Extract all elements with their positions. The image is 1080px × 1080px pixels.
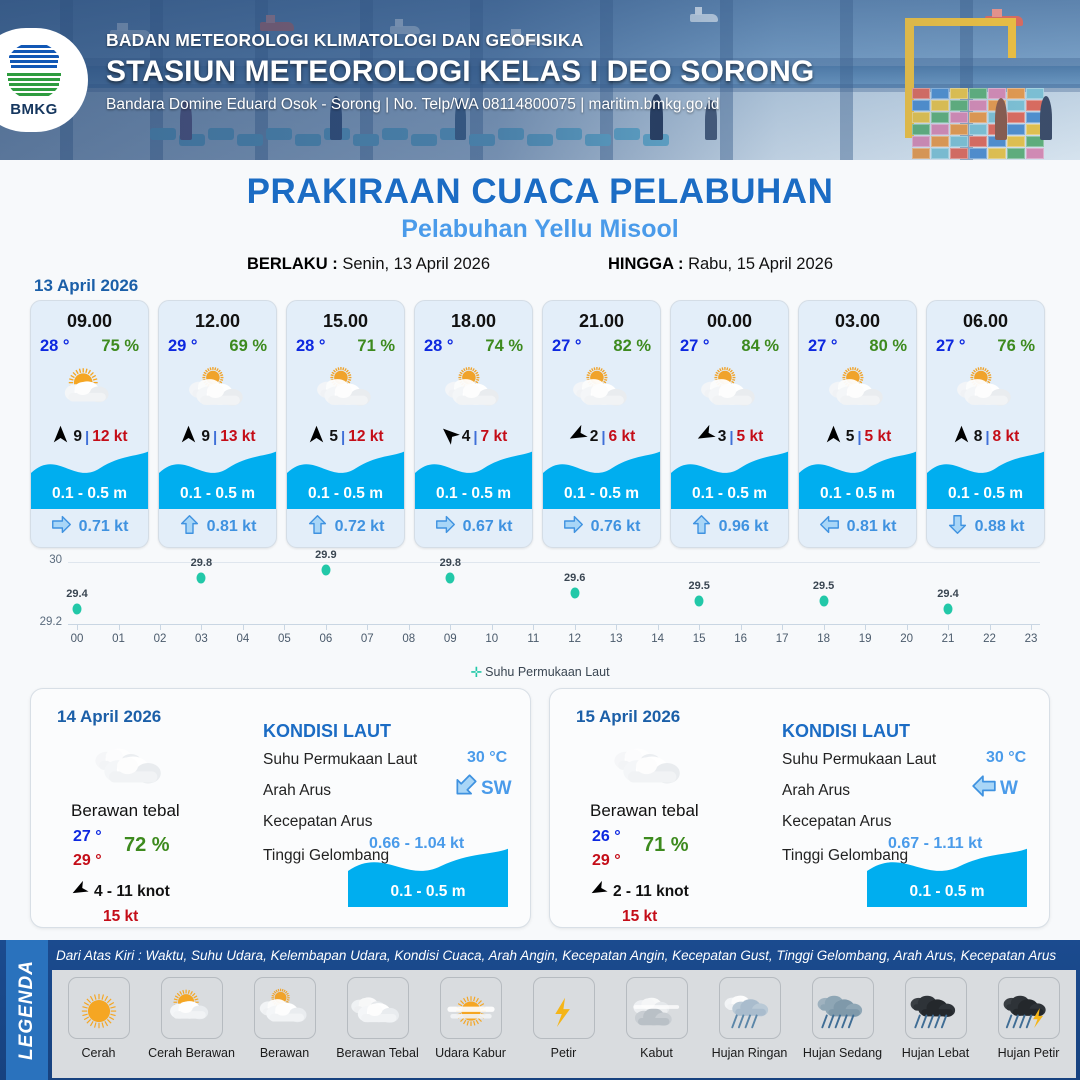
chart-point (570, 588, 579, 599)
forecast-values: 27 ° 82 % (543, 337, 660, 356)
chart-x-tick-label: 15 (693, 633, 706, 645)
panel-wind: 2 - 11 knot (590, 881, 689, 903)
kabut-icon (630, 986, 684, 1030)
wave-height: 0.1 - 0.5 m (31, 479, 148, 509)
legend-item: Hujan Petir (982, 977, 1075, 1060)
current-row: 0.81 kt (799, 512, 916, 542)
udara-kabur-icon (444, 986, 498, 1030)
chart-point-label: 29.6 (564, 572, 585, 584)
weather-condition-icon (31, 358, 148, 420)
wave-height: 0.1 - 0.5 m (799, 479, 916, 509)
cerah-berawan-icon (59, 364, 121, 415)
legend-item: Hujan Sedang (796, 977, 889, 1060)
legend-item: Cerah Berawan (145, 977, 238, 1060)
wind-speed: 2 (590, 428, 599, 446)
legend-item-icon-box (719, 977, 781, 1039)
hujan-lebat-icon (909, 986, 963, 1030)
forecast-card: 06.00 27 ° 76 % 8 | 8 kt 0.1 - 0.5 m (926, 300, 1045, 548)
wind-direction-arrow-icon (51, 425, 70, 449)
chart-x-tick (948, 624, 949, 630)
valid-to-value: Rabu, 15 April 2026 (688, 255, 833, 273)
panel-current-direction-value: W (1000, 778, 1018, 800)
air-temperature: 27 ° (808, 337, 838, 356)
chart-point-label: 29.4 (66, 588, 87, 600)
forecast-values: 29 ° 69 % (159, 337, 276, 356)
wind-direction-arrow-icon (568, 425, 587, 449)
current-direction-arrow-icon (435, 514, 456, 540)
forecast-values: 27 ° 76 % (927, 337, 1044, 356)
wind-speed: 8 (974, 428, 983, 446)
chart-point (446, 572, 455, 583)
chart-x-tick-label: 08 (402, 633, 415, 645)
legend-item: Cerah (52, 977, 145, 1060)
forecast-values: 28 ° 74 % (415, 337, 532, 356)
current-speed: 0.88 kt (975, 518, 1025, 536)
hujan-sedang-icon (816, 986, 870, 1030)
weather-condition-icon (415, 358, 532, 420)
weather-condition-icon (159, 358, 276, 420)
current-speed: 0.67 kt (463, 518, 513, 536)
forecast-time: 15.00 (287, 311, 404, 332)
legend-side-tab: LEGENDA (6, 940, 48, 1080)
hujan-petir-icon (1002, 986, 1056, 1030)
panel-weather-icon (614, 733, 688, 799)
chart-x-tick-label: 03 (195, 633, 208, 645)
chart-x-tick-label: 17 (776, 633, 789, 645)
weather-condition-icon (671, 358, 788, 420)
legend-item-icon-box (347, 977, 409, 1039)
legend-item-label: Cerah Berawan (148, 1046, 235, 1060)
legend-item-label: Hujan Ringan (712, 1046, 788, 1060)
gust-speed: 12 kt (348, 428, 383, 446)
gust-speed: 8 kt (993, 428, 1020, 446)
chart-legend-label: Suhu Permukaan Laut (485, 665, 609, 679)
wind-separator: | (601, 429, 605, 446)
chart-x-tick (990, 624, 991, 630)
berawan-icon (955, 364, 1017, 415)
wind-separator: | (85, 429, 89, 446)
valid-from-value: Senin, 13 April 2026 (342, 255, 490, 273)
panel-current-direction-label: Arah Arus (263, 782, 331, 800)
agency-name: BADAN METEOROLOGI KLIMATOLOGI DAN GEOFIS… (106, 30, 814, 51)
legend-item-label: Udara Kabur (435, 1046, 506, 1060)
chart-x-tick-label: 23 (1025, 633, 1038, 645)
chart-x-tick-label: 00 (71, 633, 84, 645)
chart-x-tick (865, 624, 866, 630)
chart-x-tick-label: 11 (527, 633, 539, 645)
panel-sst-label: Suhu Permukaan Laut (263, 751, 417, 769)
legend-side-label: LEGENDA (16, 960, 38, 1060)
chart-x-tick-label: 16 (734, 633, 747, 645)
air-temperature: 28 ° (40, 337, 70, 356)
chart-x-axis (68, 624, 1040, 625)
gust-speed: 13 kt (220, 428, 255, 446)
berawan-icon (571, 364, 633, 415)
panel-current-direction-arrow-icon (452, 773, 478, 804)
chart-x-tick (77, 624, 78, 630)
forecast-card: 12.00 29 ° 69 % 9 | 13 kt 0.1 - 0.5 m (158, 300, 277, 548)
chart-point (695, 595, 704, 606)
panel-condition: Berawan tebal (590, 801, 699, 821)
air-temperature: 28 ° (424, 337, 454, 356)
wind-direction-arrow-icon (307, 425, 326, 449)
legend-item: Petir (517, 977, 610, 1060)
chart-point-label: 29.9 (315, 549, 336, 561)
panel-date: 15 April 2026 (576, 707, 680, 727)
weather-condition-icon (287, 358, 404, 420)
panel-date: 14 April 2026 (57, 707, 161, 727)
chart-x-tick-label: 14 (651, 633, 664, 645)
humidity: 74 % (485, 337, 523, 356)
gust-speed: 5 kt (737, 428, 764, 446)
valid-to: HINGGA : Rabu, 15 April 2026 (608, 255, 833, 274)
panel-humidity: 72 % (124, 834, 170, 857)
current-row: 0.76 kt (543, 512, 660, 542)
current-row: 0.72 kt (287, 512, 404, 542)
legend-item-icon-box (161, 977, 223, 1039)
chart-x-tick-label: 10 (485, 633, 498, 645)
legend-item-label: Kabut (640, 1046, 673, 1060)
current-row: 0.67 kt (415, 512, 532, 542)
wave-height: 0.1 - 0.5 m (287, 479, 404, 509)
panel-temp-max: 29 ° (592, 852, 621, 870)
panel-wind-value: 4 - 11 knot (94, 883, 170, 901)
station-contact: Bandara Domine Eduard Osok - Sorong | No… (106, 96, 814, 114)
chart-x-tick-label: 05 (278, 633, 291, 645)
current-row: 0.96 kt (671, 512, 788, 542)
current-speed: 0.81 kt (207, 518, 257, 536)
panel-sea-title: KONDISI LAUT (782, 721, 910, 742)
bmkg-logo-text: BMKG (10, 101, 57, 118)
chart-x-tick (658, 624, 659, 630)
wind-direction-arrow-icon (440, 425, 459, 449)
forecast-date-label: 13 April 2026 (34, 276, 138, 296)
hujan-ringan-icon (723, 986, 777, 1030)
chart-x-tick (616, 624, 617, 630)
panel-wave-value: 0.1 - 0.5 m (348, 883, 508, 901)
panel-humidity: 71 % (643, 834, 689, 857)
current-direction-arrow-icon (947, 514, 968, 540)
berawan-icon (187, 364, 249, 415)
chart-x-tick-label: 20 (900, 633, 913, 645)
wind-speed: 5 (329, 428, 338, 446)
berawan-icon (699, 364, 761, 415)
legend-item-icon-box (254, 977, 316, 1039)
panel-current-speed-label: Kecepatan Arus (263, 813, 372, 831)
chart-x-tick-label: 22 (983, 633, 996, 645)
chart-plot-area: 29.429.829.929.829.629.529.529.4 (68, 562, 1040, 624)
panel-temp-min: 26 ° (592, 828, 621, 846)
wind-separator: | (729, 429, 733, 446)
humidity: 71 % (357, 337, 395, 356)
panel-sst-value: 30 °C (986, 749, 1026, 767)
chart-x-tick-label: 06 (319, 633, 332, 645)
panel-gust: 15 kt (103, 908, 138, 926)
legend-item-icon-box (998, 977, 1060, 1039)
humidity: 84 % (741, 337, 779, 356)
weather-condition-icon (927, 358, 1044, 420)
chart-point-label: 29.5 (813, 580, 834, 592)
legend-item: Berawan (238, 977, 331, 1060)
gust-speed: 7 kt (481, 428, 508, 446)
gust-speed: 6 kt (609, 428, 636, 446)
panel-current-direction-label: Arah Arus (782, 782, 850, 800)
current-direction-arrow-icon (563, 514, 584, 540)
panel-current-direction: SW (452, 773, 512, 804)
valid-from: BERLAKU : Senin, 13 April 2026 (247, 255, 490, 274)
wave-height: 0.1 - 0.5 m (543, 479, 660, 509)
petir-icon (537, 986, 591, 1030)
forecast-time: 06.00 (927, 311, 1044, 332)
forecast-values: 27 ° 80 % (799, 337, 916, 356)
wind-separator: | (857, 429, 861, 446)
panel-wind-value: 2 - 11 knot (613, 883, 689, 901)
chart-legend: ✛Suhu Permukaan Laut (30, 664, 1050, 681)
panel-sst-label: Suhu Permukaan Laut (782, 751, 936, 769)
current-speed: 0.96 kt (719, 518, 769, 536)
legend-item-label: Hujan Lebat (902, 1046, 969, 1060)
current-direction-arrow-icon (819, 514, 840, 540)
legend-item-label: Hujan Sedang (803, 1046, 882, 1060)
chart-x-tick-label: 12 (568, 633, 581, 645)
wind-direction-arrow-icon (824, 425, 843, 449)
legend-item: Kabut (610, 977, 703, 1060)
wind-speed: 9 (201, 428, 210, 446)
wind-speed: 5 (846, 428, 855, 446)
panel-wind: 4 - 11 knot (71, 881, 170, 903)
wind-speed: 9 (73, 428, 82, 446)
panel-wind-direction-arrow-icon (71, 881, 88, 903)
title-block: PRAKIRAAN CUACA PELABUHAN Pelabuhan Yell… (0, 172, 1080, 274)
panel-current-direction-arrow-icon (971, 773, 997, 804)
chart-x-tick (741, 624, 742, 630)
chart-point-label: 29.8 (440, 557, 461, 569)
chart-x-tick-label: 01 (112, 633, 125, 645)
current-speed: 0.71 kt (79, 518, 129, 536)
chart-x-tick (367, 624, 368, 630)
current-row: 0.81 kt (159, 512, 276, 542)
chart-y-tick-label: 30 (30, 554, 62, 566)
chart-x-tick (907, 624, 908, 630)
humidity: 82 % (613, 337, 651, 356)
wind-separator: | (213, 429, 217, 446)
weather-condition-icon (799, 358, 916, 420)
legend-item-icon-box (905, 977, 967, 1039)
valid-to-label: HINGGA : (608, 255, 683, 273)
gust-speed: 5 kt (865, 428, 892, 446)
sea-surface-temperature-chart: 29.429.829.929.829.629.529.529.4 ✛Suhu P… (30, 556, 1050, 684)
daily-forecast-panel: 15 April 2026 Berawan tebal 26 ° 29 ° 71… (549, 688, 1050, 928)
legend-section: LEGENDA Dari Atas Kiri : Waktu, Suhu Uda… (0, 940, 1080, 1080)
wind-separator: | (473, 429, 477, 446)
forecast-card: 18.00 28 ° 74 % 4 | 7 kt 0.1 - 0.5 m (414, 300, 533, 548)
panel-sea-title: KONDISI LAUT (263, 721, 391, 742)
daily-forecast-panel: 14 April 2026 Berawan tebal 27 ° 29 ° 72… (30, 688, 531, 928)
legend-item: Udara Kabur (424, 977, 517, 1060)
berawan-tebal-icon (351, 986, 405, 1030)
humidity: 69 % (229, 337, 267, 356)
chart-point-label: 29.5 (688, 580, 709, 592)
panel-condition: Berawan tebal (71, 801, 180, 821)
legend-item-icon-box (440, 977, 502, 1039)
berawan-icon (443, 364, 505, 415)
current-direction-arrow-icon (51, 514, 72, 540)
forecast-card: 00.00 27 ° 84 % 3 | 5 kt 0.1 - 0.5 m (670, 300, 789, 548)
panel-weather-icon (95, 733, 169, 799)
legend-item: Berawan Tebal (331, 977, 424, 1060)
forecast-time: 09.00 (31, 311, 148, 332)
wave-height: 0.1 - 0.5 m (415, 479, 532, 509)
chart-x-tick (160, 624, 161, 630)
chart-x-tick (492, 624, 493, 630)
humidity: 80 % (869, 337, 907, 356)
legend-item-label: Berawan (260, 1046, 309, 1060)
hourly-forecast-row: 09.00 28 ° 75 % 9 | 12 kt 0.1 - 0.5 m 0.… (30, 300, 1050, 548)
legend-item-icon-box (626, 977, 688, 1039)
wind-separator: | (985, 429, 989, 446)
chart-x-tick-label: 02 (154, 633, 167, 645)
chart-x-tick-label: 07 (361, 633, 374, 645)
current-row: 0.88 kt (927, 512, 1044, 542)
chart-point (73, 603, 82, 614)
weather-condition-icon (543, 358, 660, 420)
chart-x-tick (243, 624, 244, 630)
current-direction-arrow-icon (307, 514, 328, 540)
panel-wave-value: 0.1 - 0.5 m (867, 883, 1027, 901)
legend-item-label: Cerah (81, 1046, 115, 1060)
chart-x-tick (782, 624, 783, 630)
legend-item-icon-box (68, 977, 130, 1039)
chart-point-label: 29.8 (191, 557, 212, 569)
legend-item-icon-box (812, 977, 874, 1039)
cerah-berawan-icon (165, 986, 219, 1030)
panel-temp-max: 29 ° (73, 852, 102, 870)
validity-row: BERLAKU : Senin, 13 April 2026 HINGGA : … (0, 255, 1080, 274)
legend-item: Hujan Ringan (703, 977, 796, 1060)
berawan-icon (827, 364, 889, 415)
current-speed: 0.76 kt (591, 518, 641, 536)
current-direction-arrow-icon (179, 514, 200, 540)
forecast-time: 18.00 (415, 311, 532, 332)
current-speed: 0.72 kt (335, 518, 385, 536)
wave-height: 0.1 - 0.5 m (927, 479, 1044, 509)
wave-height: 0.1 - 0.5 m (159, 479, 276, 509)
air-temperature: 28 ° (296, 337, 326, 356)
bmkg-logo-top-stripes (5, 42, 63, 71)
air-temperature: 27 ° (552, 337, 582, 356)
humidity: 76 % (997, 337, 1035, 356)
valid-from-label: BERLAKU : (247, 255, 338, 273)
page-title: PRAKIRAAN CUACA PELABUHAN (0, 172, 1080, 212)
air-temperature: 29 ° (168, 337, 198, 356)
chart-x-tick (824, 624, 825, 630)
page-subtitle: Pelabuhan Yellu Misool (0, 215, 1080, 244)
humidity: 75 % (101, 337, 139, 356)
chart-x-tick-label: 19 (859, 633, 872, 645)
wind-direction-arrow-icon (696, 425, 715, 449)
chart-x-tick-label: 09 (444, 633, 457, 645)
chart-y-tick-label: 29.2 (30, 616, 62, 628)
chart-x-tick (575, 624, 576, 630)
wind-speed: 3 (718, 428, 727, 446)
chart-point (819, 595, 828, 606)
berawan-tebal-icon (95, 733, 169, 794)
chart-point (944, 603, 953, 614)
chart-x-tick (409, 624, 410, 630)
chart-point (197, 572, 206, 583)
wind-direction-arrow-icon (179, 425, 198, 449)
chart-point-label: 29.4 (937, 588, 958, 600)
cerah-icon (72, 986, 126, 1030)
forecast-values: 28 ° 75 % (31, 337, 148, 356)
berawan-icon (315, 364, 377, 415)
chart-x-tick (284, 624, 285, 630)
forecast-values: 27 ° 84 % (671, 337, 788, 356)
wave-height: 0.1 - 0.5 m (671, 479, 788, 509)
page-header: BMKG BADAN METEOROLOGI KLIMATOLOGI DAN G… (0, 0, 1080, 160)
forecast-card: 09.00 28 ° 75 % 9 | 12 kt 0.1 - 0.5 m 0.… (30, 300, 149, 548)
bmkg-logo-bottom-stripes (5, 71, 63, 100)
panel-current-direction: W (971, 773, 1018, 804)
legend-item-icon-box (533, 977, 595, 1039)
panel-current-speed-label: Kecepatan Arus (782, 813, 891, 831)
panel-sst-value: 30 °C (467, 749, 507, 767)
air-temperature: 27 ° (936, 337, 966, 356)
current-row: 0.71 kt (31, 512, 148, 542)
forecast-time: 21.00 (543, 311, 660, 332)
current-direction-arrow-icon (691, 514, 712, 540)
panel-current-direction-value: SW (481, 778, 512, 800)
wind-separator: | (341, 429, 345, 446)
current-speed: 0.81 kt (847, 518, 897, 536)
legend-caption: Dari Atas Kiri : Waktu, Suhu Udara, Kele… (56, 948, 1056, 963)
gust-speed: 12 kt (92, 428, 127, 446)
header-text-block: BADAN METEOROLOGI KLIMATOLOGI DAN GEOFIS… (106, 30, 814, 114)
bmkg-logo-circle (5, 42, 63, 100)
forecast-time: 00.00 (671, 311, 788, 332)
station-name: STASIUN METEOROLOGI KELAS I DEO SORONG (106, 55, 814, 89)
berawan-icon (258, 986, 312, 1030)
chart-x-tick (699, 624, 700, 630)
chart-x-tick-label: 13 (610, 633, 623, 645)
chart-x-tick-label: 21 (942, 633, 955, 645)
forecast-time: 12.00 (159, 311, 276, 332)
chart-x-tick (533, 624, 534, 630)
panel-wind-direction-arrow-icon (590, 881, 607, 903)
legend-item-label: Petir (551, 1046, 577, 1060)
wind-direction-arrow-icon (952, 425, 971, 449)
daily-forecast-panels: 14 April 2026 Berawan tebal 27 ° 29 ° 72… (30, 688, 1050, 928)
chart-x-tick (1031, 624, 1032, 630)
chart-gridline (68, 562, 1040, 563)
legend-item: Hujan Lebat (889, 977, 982, 1060)
chart-point (321, 564, 330, 575)
chart-x-tick (450, 624, 451, 630)
chart-x-tick (201, 624, 202, 630)
forecast-time: 03.00 (799, 311, 916, 332)
berawan-tebal-icon (614, 733, 688, 794)
panel-gust: 15 kt (622, 908, 657, 926)
chart-x-tick (326, 624, 327, 630)
forecast-card: 15.00 28 ° 71 % 5 | 12 kt 0.1 - 0.5 m (286, 300, 405, 548)
legend-item-label: Berawan Tebal (336, 1046, 418, 1060)
air-temperature: 27 ° (680, 337, 710, 356)
forecast-card: 03.00 27 ° 80 % 5 | 5 kt 0.1 - 0.5 m (798, 300, 917, 548)
chart-x-tick-label: 04 (236, 633, 249, 645)
chart-x-tick-label: 18 (817, 633, 830, 645)
wind-speed: 4 (462, 428, 471, 446)
legend-item-label: Hujan Petir (998, 1046, 1060, 1060)
